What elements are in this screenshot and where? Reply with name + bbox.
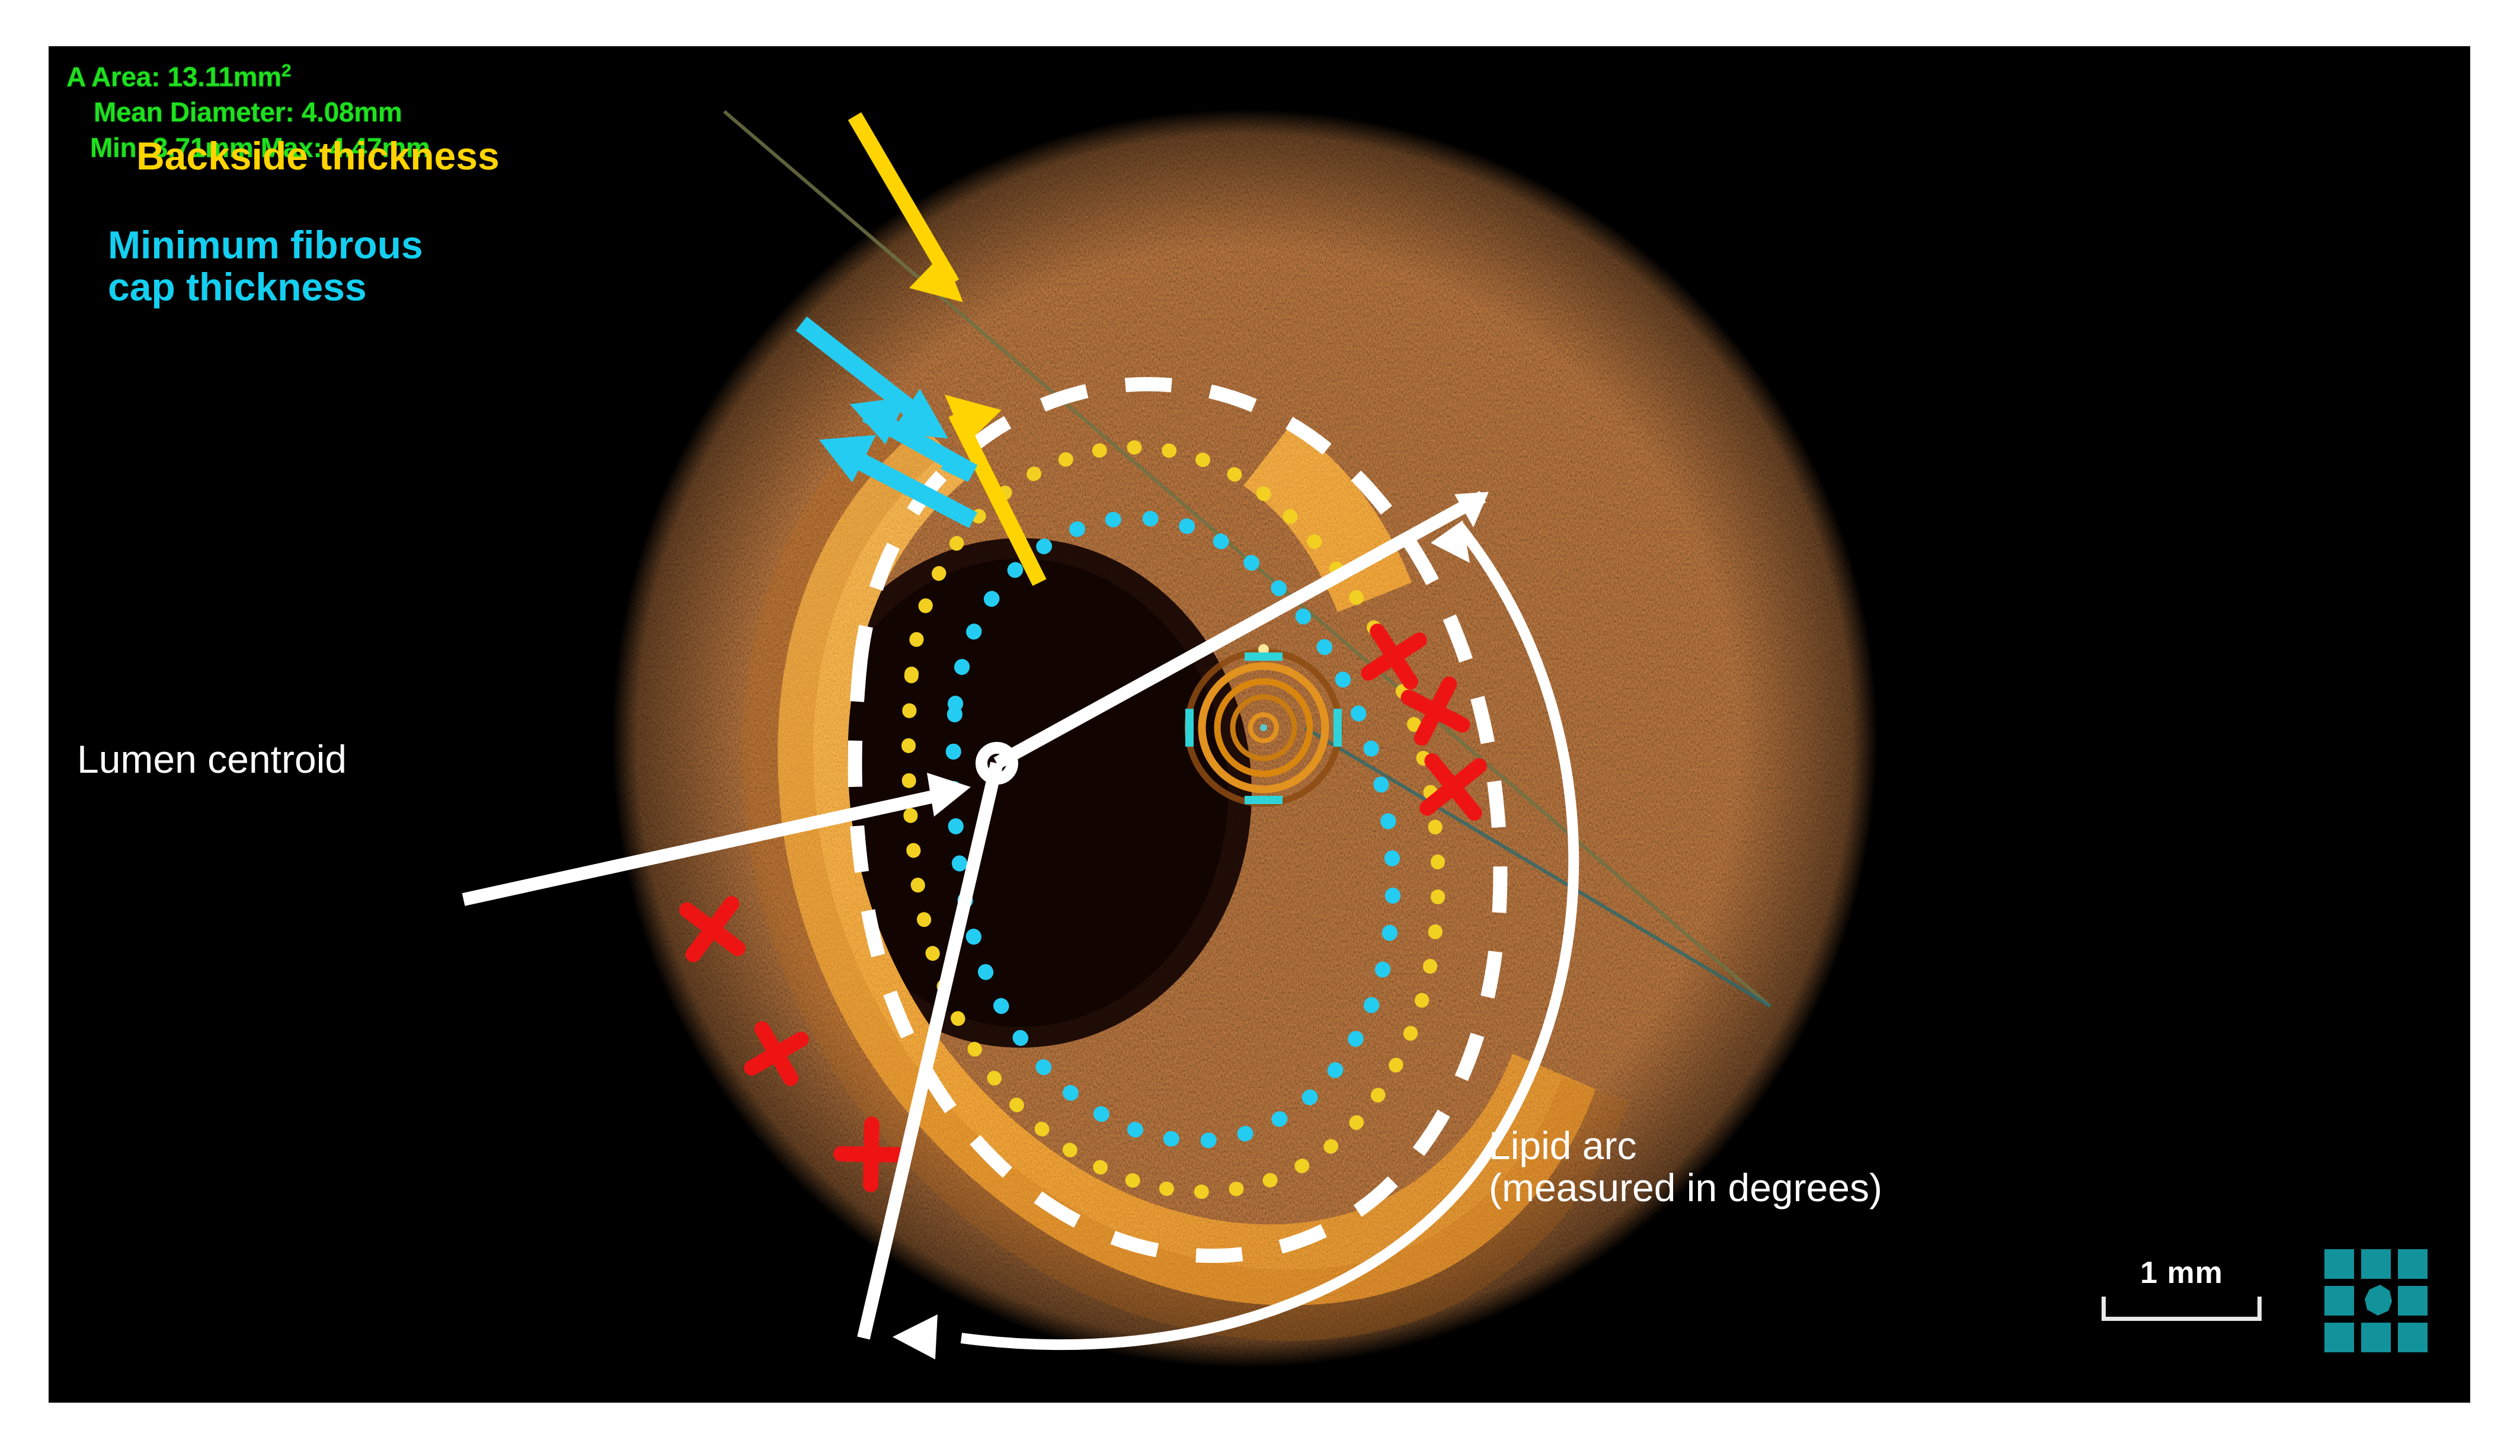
image-frame: A Area: 13.11mm2 Mean Diameter: 4.08mm M…: [0, 0, 2520, 1456]
lumen-centroid-label: Lumen centroid: [77, 738, 347, 780]
area-superscript: 2: [282, 61, 291, 81]
lumen-area-line: A Area: 13.11mm2: [66, 59, 430, 95]
minimum-fibrous-cap-thickness-label: Minimum fibrous cap thickness: [108, 224, 423, 309]
scale-bar-bracket: [2102, 1297, 2262, 1321]
mean-diameter-line: Mean Diameter: 4.08mm: [66, 95, 430, 130]
scale-bar-label: 1 mm: [2102, 1255, 2262, 1291]
oct-viewer-panel: A Area: 13.11mm2 Mean Diameter: 4.08mm M…: [49, 46, 2470, 1403]
teal-grid-logo: [2323, 1248, 2430, 1355]
lipid-arc-label: Lipid arc (measured in degrees): [1489, 1125, 1882, 1209]
scale-bar: 1 mm: [2102, 1255, 2262, 1321]
backside-thickness-label: Backside thickness: [136, 135, 500, 177]
